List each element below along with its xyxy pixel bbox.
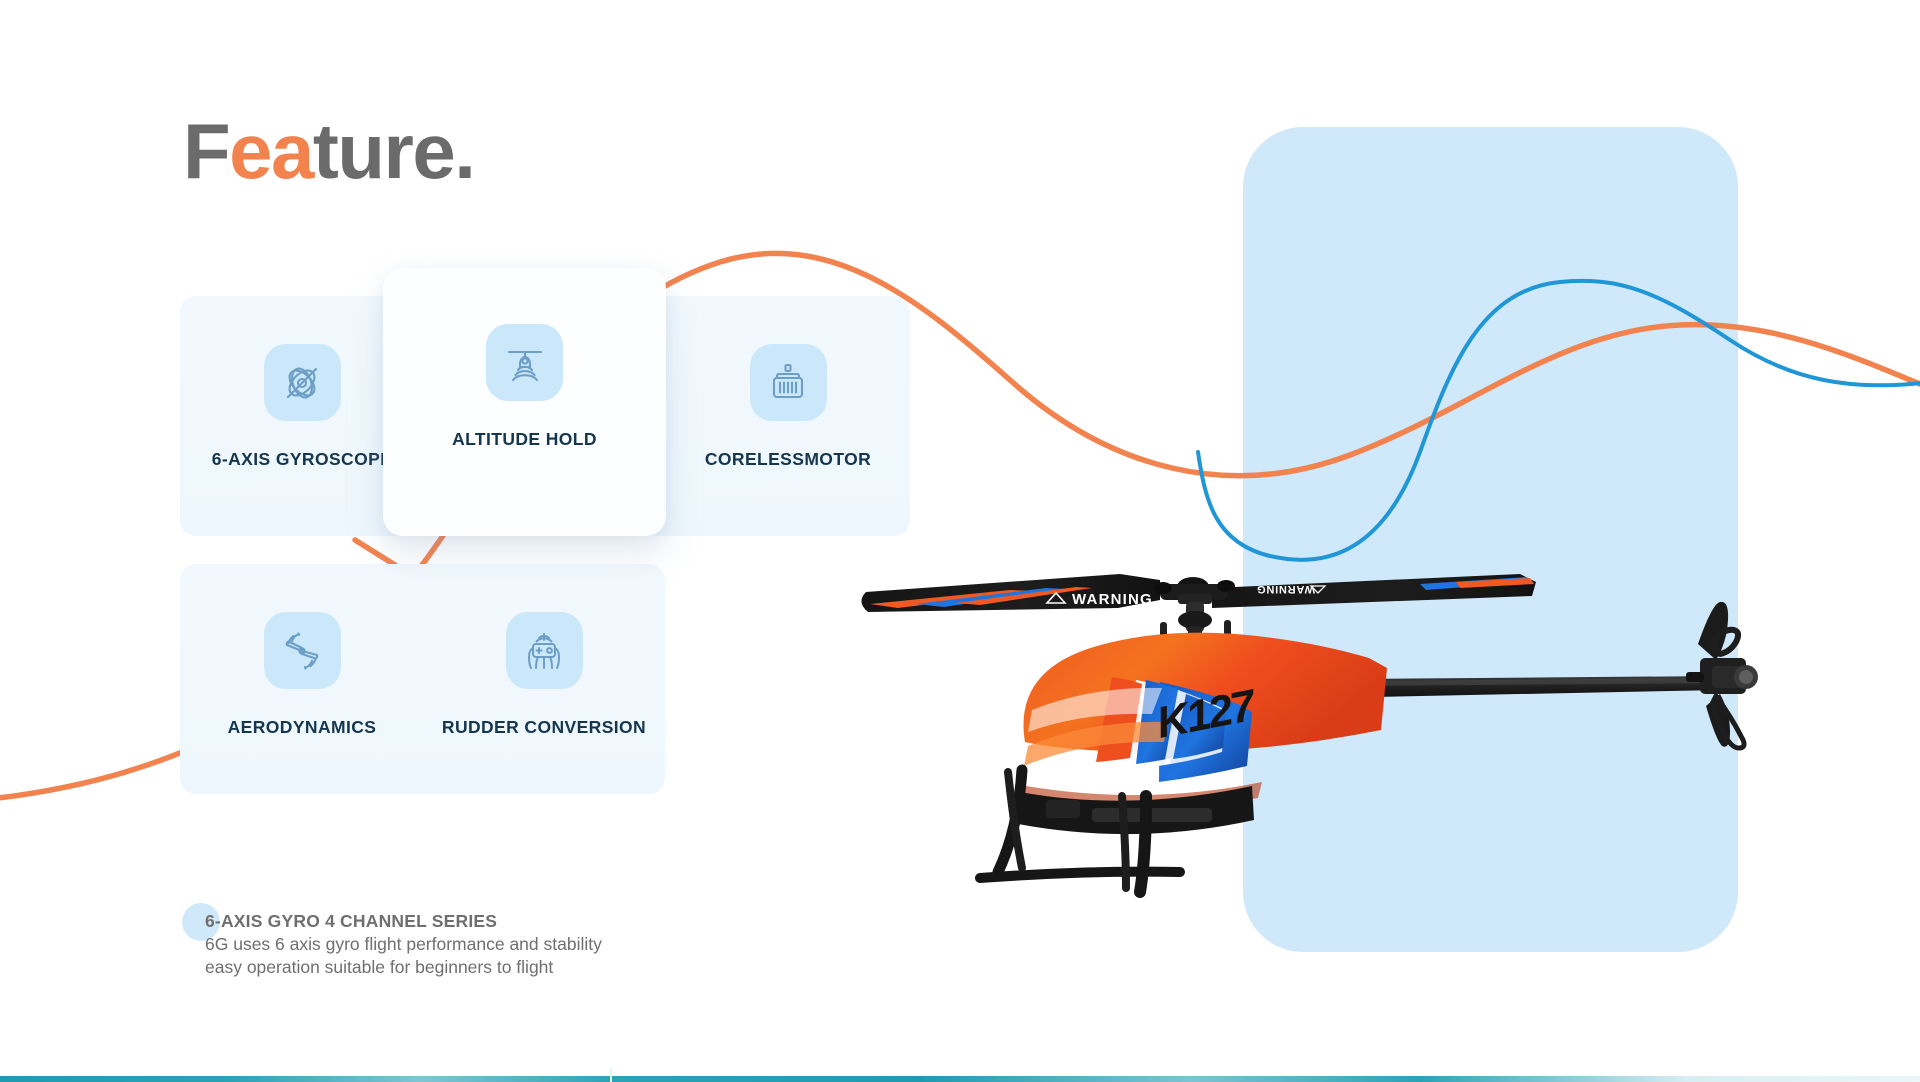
feature-card-label: ALTITUDE HOLD — [452, 429, 597, 450]
caption-line-1: 6G uses 6 axis gyro flight performance a… — [205, 933, 602, 956]
motor-icon — [750, 344, 827, 421]
page-title: Feature. — [183, 112, 474, 190]
svg-text:WARNING: WARNING — [1256, 583, 1315, 595]
feature-card-aerodynamics[interactable]: AERODYNAMICS — [180, 612, 424, 738]
caption-block: 6-AXIS GYRO 4 CHANNEL SERIES 6G uses 6 a… — [205, 910, 602, 978]
feature-card-label: 6-AXIS GYROSCOPE — [212, 449, 392, 470]
feature-card-rudder-conversion[interactable]: RUDDER CONVERSION — [422, 612, 666, 738]
bottom-accent-bar — [0, 1076, 1920, 1082]
tail-rotor — [1686, 602, 1758, 748]
feature-card-label: CORELESSMOTOR — [705, 449, 871, 470]
helicopter-signal-icon — [486, 324, 563, 401]
feature-grid: 6-AXIS GYROSCOPE ALTITUDE HOLD — [180, 296, 920, 796]
hands-transmitter-icon — [506, 612, 583, 689]
feature-card-label: RUDDER CONVERSION — [442, 717, 646, 738]
svg-text:Keep your face and eyes away: Keep your face and eyes away — [1056, 608, 1180, 618]
bottom-accent-tick — [610, 1068, 612, 1082]
svg-text:from the running rotors: from the running rotors — [1056, 618, 1151, 628]
caption-line-2: easy operation suitable for beginners to… — [205, 956, 602, 979]
page-title-part-2: ture. — [313, 107, 475, 195]
feature-card-label: AERODYNAMICS — [228, 717, 377, 738]
svg-text:WARNING: WARNING — [1072, 591, 1153, 608]
fuselage-canopy: K127 — [1024, 633, 1388, 810]
caption-title: 6-AXIS GYRO 4 CHANNEL SERIES — [205, 910, 602, 933]
page-title-part-1: F — [183, 107, 229, 195]
rotor-airflow-icon — [264, 612, 341, 689]
main-rotor-blade-left: WARNING Keep your face and eyes away fro… — [861, 574, 1180, 628]
helicopter-photo: WARNING Keep your face and eyes away fro… — [860, 560, 1920, 960]
main-rotor-blade-right: WARNING — [1212, 574, 1536, 608]
feature-card-altitude-hold[interactable]: ALTITUDE HOLD — [383, 268, 666, 536]
feature-card-coreless-motor[interactable]: CORELESSMOTOR — [666, 344, 910, 470]
gyroscope-icon — [264, 344, 341, 421]
feature-section: Feature. 6-AXIS GYROSCOPE — [0, 0, 1920, 1082]
page-title-accent: ea — [229, 107, 313, 195]
